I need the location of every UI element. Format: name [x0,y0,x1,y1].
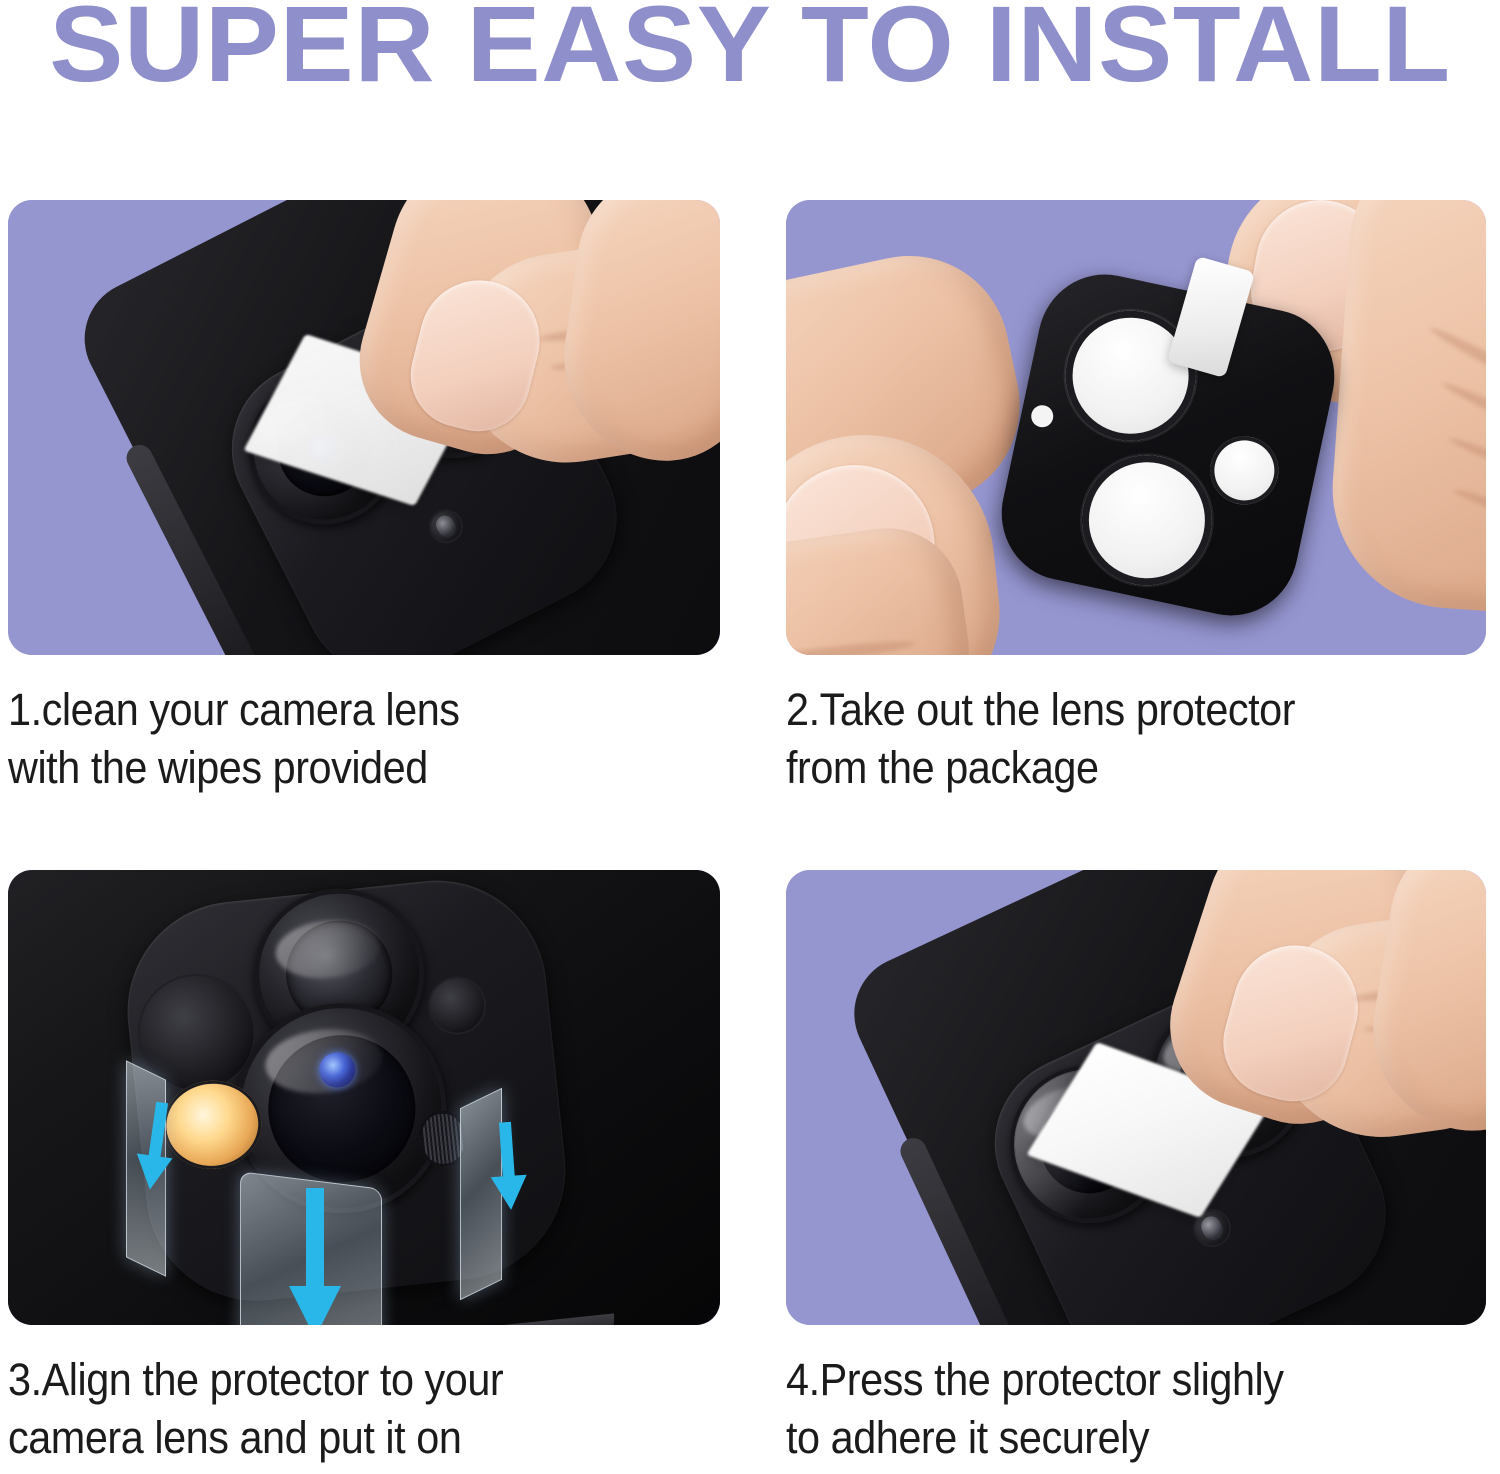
step-1-caption: 1.clean your camera lens with the wipes … [8,681,663,796]
step-3-caption: 3.Align the protector to your camera len… [8,1351,663,1466]
page-title: SUPER EASY TO INSTALL [0,0,1500,104]
hand [1141,870,1486,1240]
right-palm [1325,200,1486,619]
hand [338,200,720,550]
step-4: 4.Press the protector slighly to adhere … [786,870,1498,1466]
protector-hole-mic [1029,403,1055,429]
step-1-photo [8,200,720,655]
install-steps-grid: 1.clean your camera lens with the wipes … [0,190,1500,1474]
step-3: 3.Align the protector to your camera len… [8,870,720,1466]
step-3-photo [8,870,720,1325]
step-2: 2.Take out the lens protector from the p… [786,200,1498,796]
step-4-photo [786,870,1486,1325]
protector-hole-flash [1204,430,1285,511]
down-arrow-right [485,1121,531,1212]
protector-hole-bottom [1070,443,1224,597]
down-arrow-center [286,1188,344,1325]
step-1: 1.clean your camera lens with the wipes … [8,200,720,796]
step-4-caption: 4.Press the protector slighly to adhere … [786,1351,1441,1466]
step-2-photo [786,200,1486,655]
step-2-caption: 2.Take out the lens protector from the p… [786,681,1441,796]
